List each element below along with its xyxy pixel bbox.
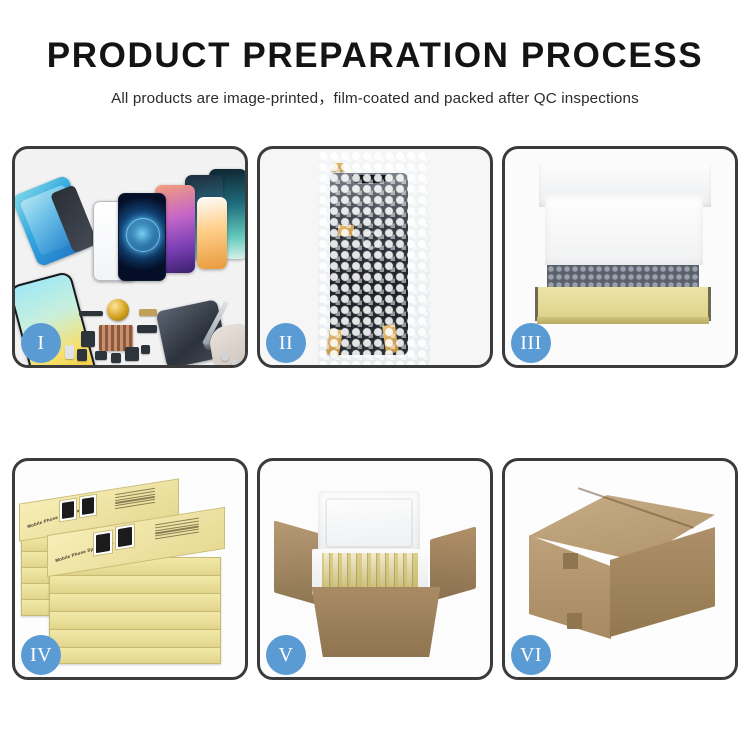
- process-step-6: VI: [502, 458, 738, 680]
- part-screw-2: [231, 359, 238, 365]
- step-badge-5: V: [266, 635, 306, 675]
- stacked-box-f5: [49, 629, 221, 648]
- phone-gold-icon: [197, 197, 227, 269]
- box-phone-art-f2: [115, 523, 135, 550]
- stacked-box-f6: [49, 647, 221, 664]
- box-bottom-edge-icon: [537, 317, 709, 324]
- stacked-box-f2: [49, 575, 221, 594]
- speaker-coil-icon: [107, 299, 129, 321]
- process-step-5: V: [257, 458, 493, 680]
- bubble-wrap-texture-icon: [318, 151, 430, 365]
- process-step-3: III: [502, 146, 738, 368]
- box-phone-art-f1: [93, 529, 113, 556]
- step-badge-3: III: [511, 323, 551, 363]
- part-gold-clip: [139, 309, 157, 316]
- step-badge-6: VI: [511, 635, 551, 675]
- step-badge-1: I: [21, 323, 61, 363]
- phone-blue-art-icon: [118, 193, 166, 281]
- step-badge-4: IV: [21, 635, 61, 675]
- part-module-2: [77, 349, 87, 361]
- part-button-icon: [65, 345, 74, 359]
- foam-pad-icon: [545, 195, 703, 265]
- carton-tape-lower-icon: [567, 613, 582, 629]
- part-screw-1: [221, 353, 229, 361]
- part-connector-2: [137, 325, 157, 333]
- part-module-4: [111, 353, 121, 363]
- process-step-grid: I II III: [12, 146, 738, 680]
- page-title: PRODUCT PREPARATION PROCESS: [0, 38, 750, 75]
- box-phone-art-b1: [59, 498, 77, 523]
- inner-boxes-row-icon: [322, 553, 418, 589]
- part-connector-1: [79, 311, 103, 316]
- process-step-4: Mobile Phone Spare Parts Mobile Phone Sp…: [12, 458, 248, 680]
- process-step-2: II: [257, 146, 493, 368]
- stacked-box-f4: [49, 611, 221, 630]
- step-badge-2: II: [266, 323, 306, 363]
- page-header: PRODUCT PREPARATION PROCESS All products…: [0, 0, 750, 108]
- carton-body-icon: [306, 587, 446, 657]
- part-module-1: [81, 331, 95, 347]
- box-front-panel-icon: [535, 287, 711, 321]
- page-subtitle: All products are image-printed，film-coat…: [0, 86, 750, 108]
- part-module-6: [141, 345, 150, 354]
- stacked-box-f3: [49, 593, 221, 612]
- process-step-1: I: [12, 146, 248, 368]
- part-module-3: [95, 351, 107, 360]
- part-module-5: [125, 347, 139, 361]
- box-phone-art-b2: [79, 494, 97, 519]
- foam-cooler-lid-icon: [318, 491, 420, 555]
- carton-tape-upper-icon: [563, 553, 578, 569]
